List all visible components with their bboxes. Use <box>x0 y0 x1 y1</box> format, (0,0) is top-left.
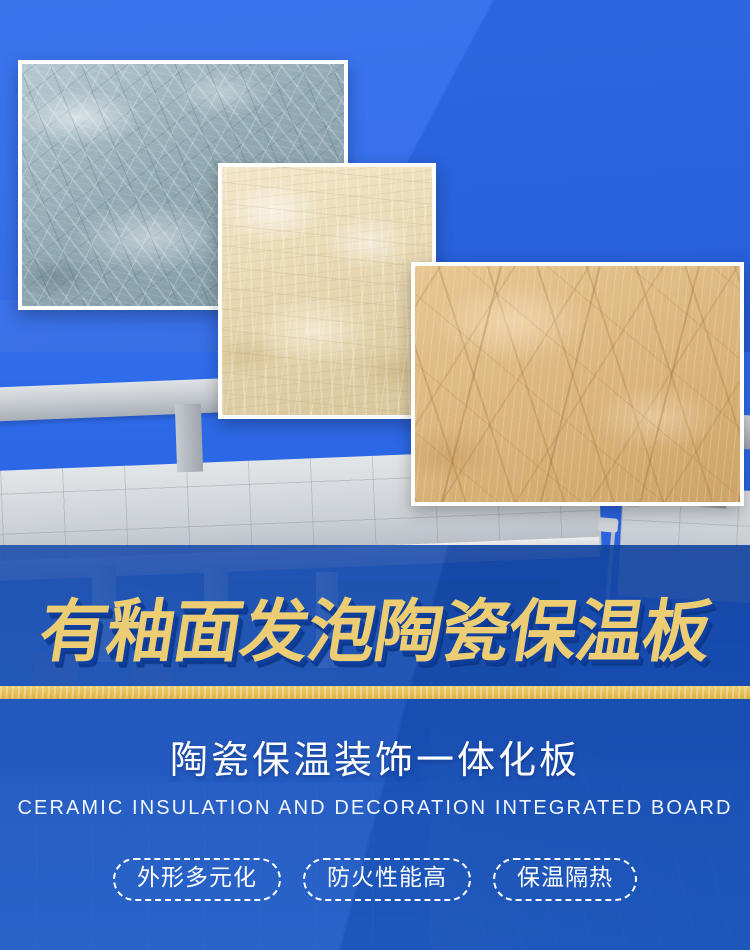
main-title: 有釉面发泡陶瓷保温板 <box>35 599 716 667</box>
subtitle-english: CERAMIC INSULATION AND DECORATION INTEGR… <box>0 797 750 819</box>
feature-badge-fire-resistance[interactable]: 防火性能高 <box>303 858 471 901</box>
feature-badge-shape-diversity[interactable]: 外形多元化 <box>113 858 281 901</box>
subtitle-chinese: 陶瓷保温装饰一体化板 <box>0 740 750 782</box>
feature-badge-row: 外形多元化 防火性能高 保温隔热 <box>0 858 750 901</box>
main-title-container: 有釉面发泡陶瓷保温板 <box>0 588 750 678</box>
cream-travertine-texture <box>222 167 432 415</box>
building-column-a <box>175 404 203 473</box>
gold-divider-bar <box>0 686 750 699</box>
tile-sample-cream-travertine <box>218 163 436 419</box>
street-lamp-head <box>597 517 618 533</box>
tile-sample-tan-golden-marble <box>411 262 744 506</box>
tan-golden-marble-texture <box>415 266 740 502</box>
feature-badge-thermal-insulation[interactable]: 保温隔热 <box>493 858 637 901</box>
product-banner: 有釉面发泡陶瓷保温板 陶瓷保温装饰一体化板 CERAMIC INSULATION… <box>0 0 750 950</box>
